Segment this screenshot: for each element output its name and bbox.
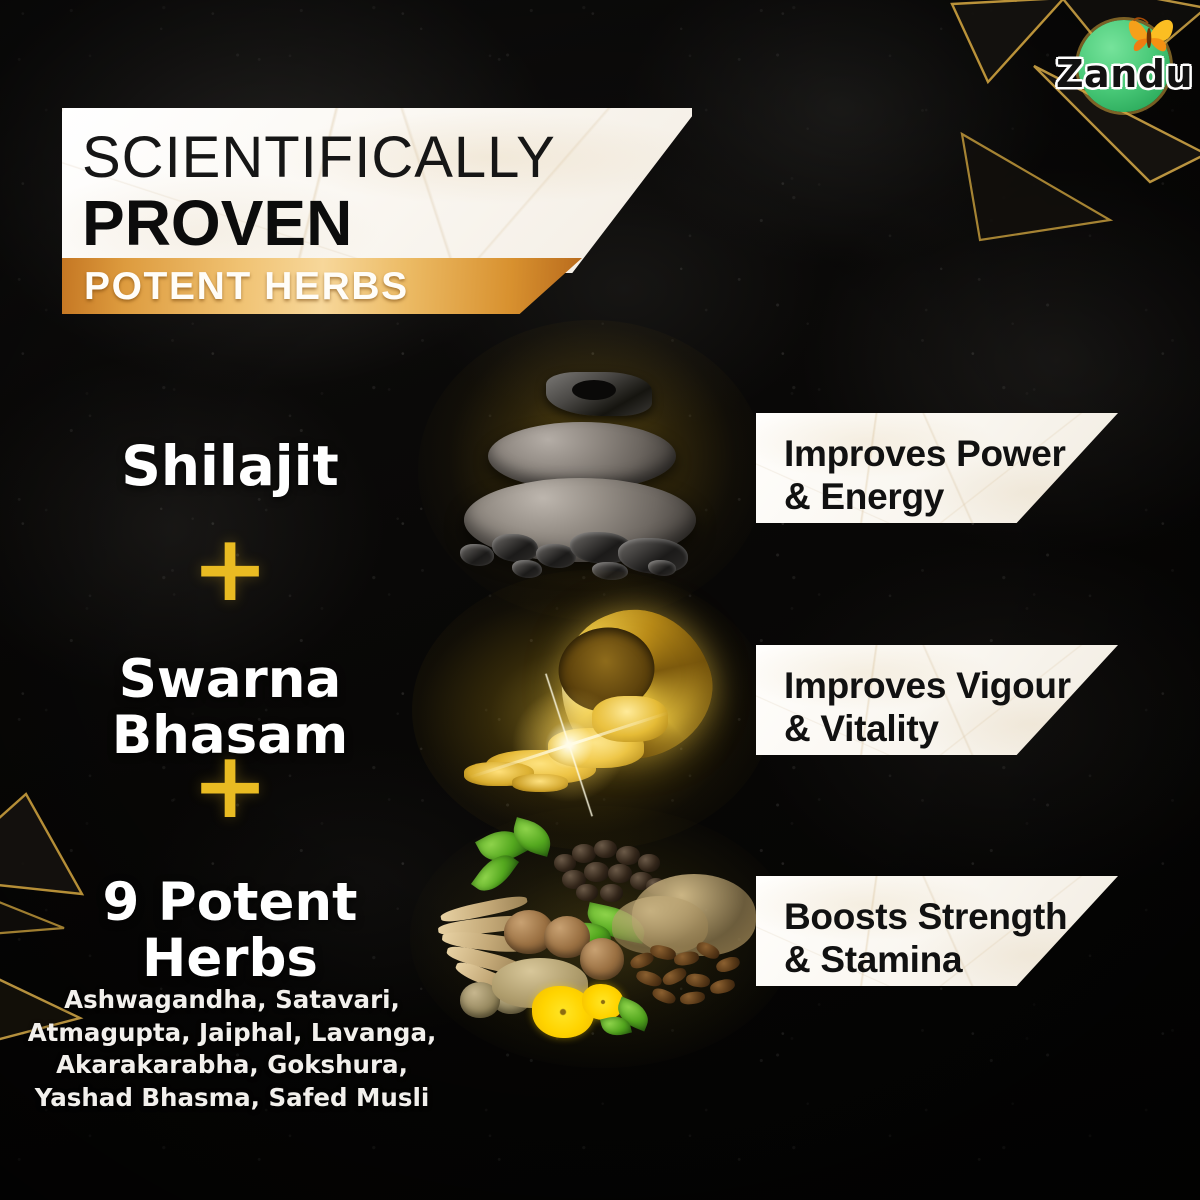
brand-logo[interactable]: Zandu (1060, 8, 1186, 120)
ingredient-name-nine-potent-herbs: 9 Potent Herbs (0, 875, 460, 987)
gold-granules (512, 774, 568, 792)
headline-line-2: PROVEN (82, 186, 352, 260)
mineral-chunk (546, 372, 652, 416)
mineral-chip (460, 544, 494, 566)
ingredient-name-shilajit: Shilajit (0, 437, 460, 495)
herb-list-text: Ashwagandha, Satavari, Atmagupta, Jaipha… (22, 984, 442, 1114)
benefit-text: Boosts Strength & Stamina (784, 896, 1067, 982)
herb-yellow-flower (582, 984, 624, 1020)
mineral-chip (592, 562, 628, 580)
gold-granules (592, 696, 668, 742)
plus-sign-2: + (0, 740, 460, 832)
poster-canvas: Zandu SCIENTIFICALLY PROVEN POTENT HERBS… (0, 0, 1200, 1200)
benefit-text: Improves Power & Energy (784, 433, 1066, 519)
headline-line-1: SCIENTIFICALLY (82, 124, 556, 191)
mineral-chip (492, 534, 538, 562)
mineral-chip (648, 560, 676, 576)
gold-bowl-icon (452, 600, 732, 815)
brand-name: Zandu (1056, 52, 1190, 96)
herb-pile-icon (436, 826, 766, 1046)
mineral-chip (512, 560, 542, 578)
herb-nutmeg (580, 938, 624, 980)
herb-clove-cluster (628, 944, 746, 1010)
plus-sign-1: + (0, 523, 460, 615)
gold-triangle-decor-icon (956, 128, 1116, 246)
benefit-text: Improves Vigour & Vitality (784, 665, 1071, 751)
headline-ribbon-label: POTENT HERBS (84, 265, 409, 309)
headline-ribbon: POTENT HERBS (62, 258, 582, 314)
shilajit-stones-icon (452, 348, 732, 588)
